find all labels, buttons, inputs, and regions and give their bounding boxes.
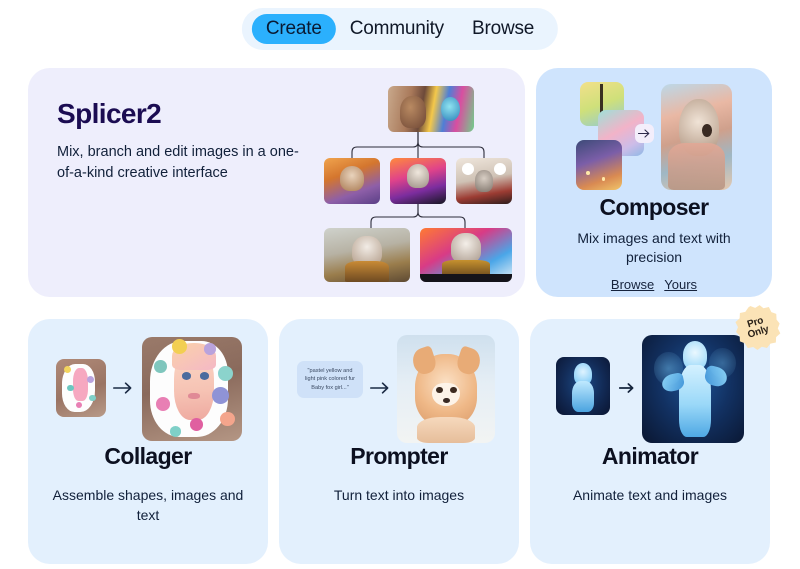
composer-source-tile-3	[576, 140, 622, 190]
tree-node-leaf-2[interactable]	[420, 228, 512, 282]
splicer2-image-tree	[324, 86, 512, 282]
tab-community[interactable]: Community	[336, 14, 458, 44]
composer-result-image	[661, 84, 732, 190]
card-prompter[interactable]: "pastel yellow and light pink colored fu…	[279, 319, 519, 564]
animator-result-image	[642, 335, 744, 443]
animator-subtitle: Animate text and images	[530, 486, 770, 506]
collager-result-image	[142, 337, 242, 441]
composer-artwork	[572, 82, 737, 194]
splicer2-title: Splicer2	[57, 98, 307, 130]
collager-subtitle: Assemble shapes, images and text	[28, 486, 268, 525]
card-row-top: Splicer2 Mix, branch and edit images in …	[28, 68, 772, 297]
prompter-text-block: Prompter Turn text into images	[279, 443, 519, 506]
collager-artwork	[28, 335, 268, 443]
composer-arrow-icon	[635, 124, 654, 143]
tree-node-leaf-1[interactable]	[324, 228, 410, 282]
composer-title: Composer	[536, 194, 772, 221]
tree-node-child-1[interactable]	[324, 158, 380, 204]
tree-node-root[interactable]	[388, 86, 474, 132]
card-collager[interactable]: Collager Assemble shapes, images and tex…	[28, 319, 268, 564]
animator-artwork	[530, 335, 770, 443]
composer-links: Browse Yours	[536, 277, 772, 292]
card-animator[interactable]: Pro Only	[530, 319, 770, 564]
tab-create[interactable]: Create	[252, 14, 336, 44]
collager-source-image	[56, 359, 106, 417]
tab-browse[interactable]: Browse	[458, 14, 548, 44]
composer-text-block: Composer Mix images and text with precis…	[536, 194, 772, 292]
card-splicer2[interactable]: Splicer2 Mix, branch and edit images in …	[28, 68, 525, 297]
animator-text-block: Animator Animate text and images	[530, 443, 770, 506]
card-composer[interactable]: Composer Mix images and text with precis…	[536, 68, 772, 297]
prompter-result-image	[397, 335, 495, 443]
tree-node-child-2[interactable]	[390, 158, 446, 204]
tree-node-child-3[interactable]	[456, 158, 512, 204]
animator-arrow-icon	[618, 381, 636, 395]
app-root: Create Community Browse Splicer2 Mix, br…	[0, 0, 800, 569]
card-row-bottom: Collager Assemble shapes, images and tex…	[28, 319, 772, 564]
splicer2-text-block: Splicer2 Mix, branch and edit images in …	[57, 98, 307, 183]
prompter-prompt-bubble: "pastel yellow and light pink colored fu…	[297, 361, 363, 398]
prompter-arrow-icon	[369, 379, 391, 397]
prompter-artwork: "pastel yellow and light pink colored fu…	[279, 335, 519, 443]
collager-text-block: Collager Assemble shapes, images and tex…	[28, 443, 268, 525]
composer-link-yours[interactable]: Yours	[664, 277, 697, 292]
animator-source-image	[556, 357, 610, 415]
prompter-title: Prompter	[279, 443, 519, 470]
collager-title: Collager	[28, 443, 268, 470]
splicer2-subtitle: Mix, branch and edit images in a one-of-…	[57, 142, 307, 183]
prompter-subtitle: Turn text into images	[279, 486, 519, 506]
composer-subtitle: Mix images and text with precision	[536, 229, 772, 267]
collager-arrow-icon	[112, 379, 134, 397]
animator-title: Animator	[530, 443, 770, 470]
tab-bar: Create Community Browse	[242, 8, 558, 50]
card-grid: Splicer2 Mix, branch and edit images in …	[28, 68, 772, 564]
composer-link-browse[interactable]: Browse	[611, 277, 654, 292]
